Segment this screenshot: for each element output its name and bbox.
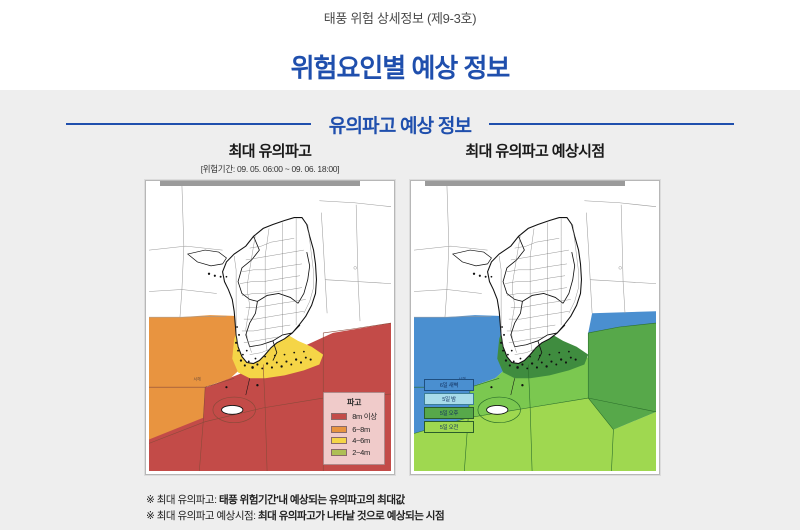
legend-row: 4~6m — [331, 436, 377, 445]
legend-row-afternoon-5th: 5일 오후 — [424, 407, 474, 419]
footnote-lead: 최대 유의파고 예상시점: — [157, 510, 258, 522]
legend-row-night-5th: 5일 밤 — [424, 393, 474, 405]
footnote-bold: 태풍 위험기간' — [219, 494, 278, 506]
footnote-max-wave: ※ 최대 유의파고: 태풍 위험기간'내 예상되는 유의파고의 최대값 — [146, 492, 766, 508]
section-rule-left — [66, 123, 311, 125]
legend-label-night-5th: 5일 밤 — [442, 395, 456, 403]
section-rule-right — [489, 123, 734, 125]
legend-label-8m: 8m 이상 — [352, 411, 377, 422]
legend-swatch-4-6m — [331, 437, 347, 444]
legend-label-morning-5th: 5일 오전 — [440, 423, 458, 431]
map-scroll-bar[interactable] — [160, 181, 360, 186]
legend-swatch-2-4m — [331, 449, 347, 456]
wave-timing-legend: 6일 새벽 5일 밤 5일 오후 5일 오전 — [424, 379, 474, 433]
legend-row: 8m 이상 — [331, 411, 377, 422]
legend-label-dawn-6th: 6일 새벽 — [440, 381, 458, 389]
legend-label-2-4m: 2~4m — [352, 448, 370, 457]
map-canvas-max-wave-time[interactable]: 서해 6일 새벽 5일 밤 5일 오후 — [414, 185, 656, 471]
typhoon-wave-forecast-page: 태풍 위험 상세정보 (제9-3호) 위험요인별 예상 정보 유의파고 예상 정… — [0, 0, 800, 530]
map-caption-max-wave: 최대 유의파고 — [140, 142, 400, 162]
footnote-marker: ※ — [146, 494, 157, 506]
legend-swatch-8m — [331, 413, 347, 420]
wave-height-legend: 파고 8m 이상 6~8m 4~6m — [323, 392, 385, 465]
footnote-max-wave-time: ※ 최대 유의파고 예상시점: 최대 유의파고가 나타날 것으로 예상되는 시점 — [146, 508, 766, 524]
svg-text:서해: 서해 — [194, 376, 202, 381]
footnotes: ※ 최대 유의파고: 태풍 위험기간'내 예상되는 유의파고의 최대값 ※ 최대… — [146, 492, 766, 524]
legend-row-morning-5th: 5일 오전 — [424, 421, 474, 433]
legend-row: 2~4m — [331, 448, 377, 457]
map-frame-max-wave[interactable]: 서해 파고 8m 이상 6~8m — [145, 180, 395, 475]
footnote-marker: ※ — [146, 510, 157, 522]
legend-title: 파고 — [331, 397, 377, 408]
map-frame-max-wave-time[interactable]: 서해 6일 새벽 5일 밤 5일 오후 — [410, 180, 660, 475]
map-scroll-bar[interactable] — [425, 181, 625, 186]
legend-label-4-6m: 4~6m — [352, 436, 370, 445]
section-header: 유의파고 예상 정보 — [0, 110, 800, 138]
page-title: 위험요인별 예상 정보 — [0, 48, 800, 85]
legend-row: 6~8m — [331, 425, 377, 434]
legend-row-dawn-6th: 6일 새벽 — [424, 379, 474, 391]
map-canvas-max-wave[interactable]: 서해 파고 8m 이상 6~8m — [149, 185, 391, 471]
section-title: 유의파고 예상 정보 — [329, 111, 471, 138]
map-caption-max-wave-time: 최대 유의파고 예상시점 — [405, 142, 665, 162]
map-column-max-wave-time: 최대 유의파고 예상시점 — [405, 142, 665, 475]
legend-label-6-8m: 6~8m — [352, 425, 370, 434]
legend-label-afternoon-5th: 5일 오후 — [440, 409, 458, 417]
map-column-max-wave: 최대 유의파고 [위험기간: 09. 05. 06:00 ~ 09. 06. 1… — [140, 142, 400, 475]
document-subtitle: 태풍 위험 상세정보 (제9-3호) — [0, 8, 800, 27]
maps-container: 최대 유의파고 [위험기간: 09. 05. 06:00 ~ 09. 06. 1… — [0, 142, 800, 492]
map-risk-period: [위험기간: 09. 05. 06:00 ~ 09. 06. 18:00] — [140, 162, 400, 176]
footnote-tail: 내 예상되는 유의파고의 최대값 — [278, 494, 404, 506]
footnote-lead: 최대 유의파고: — [157, 494, 219, 506]
footnote-bold: 최대 유의파고가 나타날 것으로 예상되는 시점 — [258, 510, 444, 522]
legend-swatch-6-8m — [331, 426, 347, 433]
